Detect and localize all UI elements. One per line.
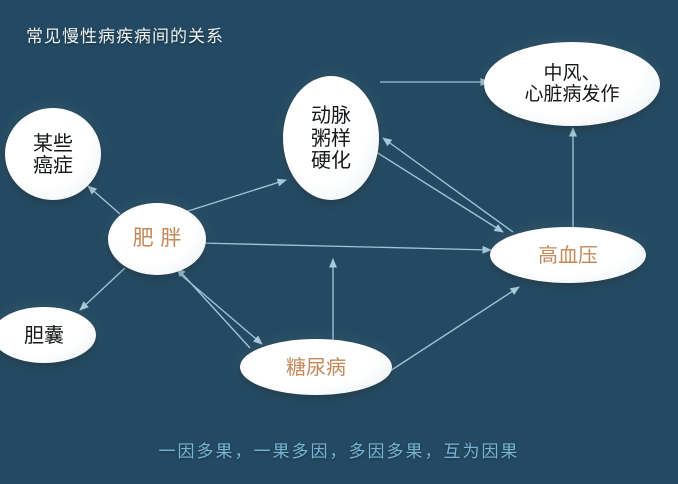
node-obesity[interactable]: 肥 胖	[108, 203, 206, 275]
node-label: 高血压	[538, 244, 598, 266]
node-label: 肥 胖	[133, 227, 182, 251]
summary-caption: 一因多果，一果多因，多因多果，互为因果	[0, 437, 678, 462]
node-label: 某些 癌症	[33, 132, 73, 177]
edge-obesity-hyper	[200, 243, 491, 250]
edge-athero-to-hyper	[373, 150, 503, 232]
edge-diabetes-to-obesity	[177, 268, 250, 348]
edge-hyper-to-athero	[383, 138, 513, 232]
edge-obesity-cancer	[88, 186, 120, 214]
node-diabetes[interactable]: 糖尿病	[240, 339, 392, 395]
slide-canvas: 常见慢性病疾病间的关系	[0, 0, 678, 484]
node-stroke-heart-attack[interactable]: 中风、 心脏病发作	[484, 42, 660, 126]
node-atherosclerosis[interactable]: 动脉 粥样 硬化	[283, 76, 379, 200]
edge-obesity-gall	[80, 268, 125, 310]
node-label: 糖尿病	[286, 356, 346, 378]
node-some-cancers[interactable]: 某些 癌症	[5, 108, 101, 200]
node-label: 动脉 粥样 硬化	[311, 104, 351, 171]
node-label: 中风、 心脏病发作	[524, 63, 619, 106]
node-hypertension[interactable]: 高血压	[490, 227, 646, 283]
edge-obesity-athero	[185, 180, 286, 212]
edge-diabetes-hyper	[390, 287, 519, 371]
node-label: 胆囊	[24, 324, 64, 346]
